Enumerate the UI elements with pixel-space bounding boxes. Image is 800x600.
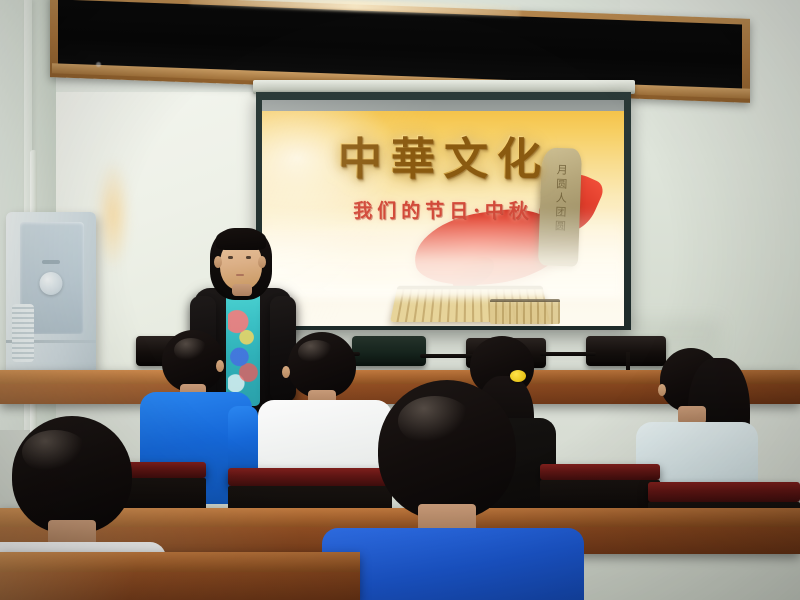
wall-light-reflection	[96, 160, 130, 270]
air-conditioner-dial[interactable]	[40, 272, 63, 295]
student-ear	[216, 360, 224, 372]
classroom-scene: 月圆人团圆 中華文化 我们的节日·中秋	[0, 0, 800, 600]
student-shirt	[322, 528, 584, 600]
hair-highlight	[174, 338, 208, 362]
presenter-mouth	[236, 274, 244, 276]
slide-letterbox-bar	[262, 100, 624, 111]
hair-highlight	[298, 340, 334, 364]
hair-highlight	[22, 430, 88, 474]
presenter-eye	[246, 256, 251, 259]
hair-highlight	[398, 396, 472, 446]
air-conditioner[interactable]	[6, 212, 96, 372]
presenter-ear	[214, 256, 222, 268]
air-conditioner-vent	[12, 304, 34, 362]
desk-highlight	[0, 552, 360, 600]
projected-slide: 月圆人团圆 中華文化 我们的节日·中秋	[262, 100, 624, 326]
presenter-bangs	[216, 228, 266, 250]
presenter-ear	[258, 256, 266, 268]
student-ear	[282, 366, 290, 378]
bamboo-scroll-secondary-icon	[490, 299, 560, 324]
presenter-eye	[228, 256, 233, 259]
presenter-neck	[232, 284, 252, 296]
slide-subtitle: 我们的节日·中秋	[262, 196, 624, 223]
air-conditioner-display	[42, 260, 60, 264]
desk-row	[0, 552, 360, 600]
student-foreground-blue[interactable]	[340, 380, 570, 600]
blackboard-chalk-mark	[96, 62, 101, 67]
student-ear	[658, 384, 666, 396]
bench-backrest[interactable]	[648, 482, 800, 502]
slide-title: 中華文化	[262, 122, 624, 186]
